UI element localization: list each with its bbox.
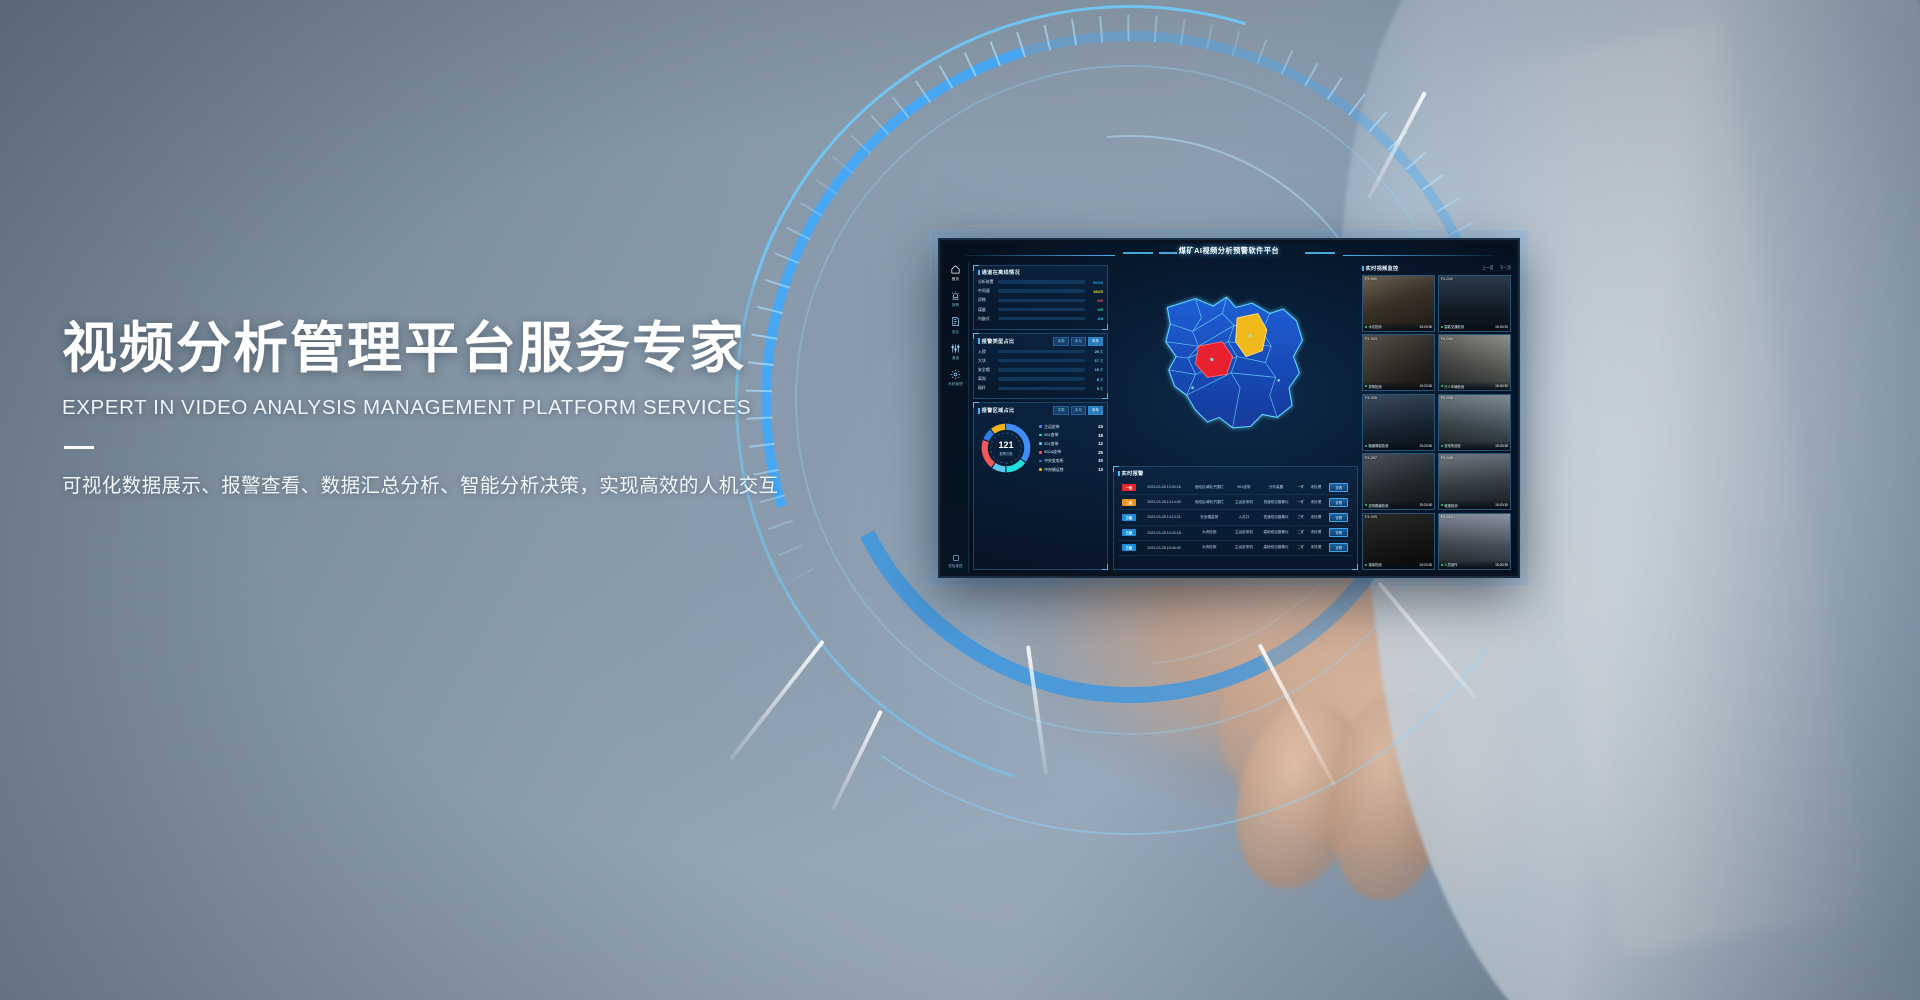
alarm-type-value: 10次 bbox=[1088, 367, 1103, 372]
panel-title: 通道在离线情况 bbox=[978, 269, 1020, 276]
video-footer: 跑偏撕裂检测15:20:30 bbox=[1363, 442, 1434, 450]
alarm-level-cell: 三级 bbox=[1118, 525, 1140, 540]
alarm-type-row: 大块17次 bbox=[978, 358, 1103, 364]
video-cell[interactable]: FX-010人员操作15:20:30 bbox=[1438, 513, 1511, 570]
alarm-type-label: 大块 bbox=[978, 358, 995, 364]
legend-label: 902A皮带 bbox=[1044, 449, 1096, 455]
video-name-text: 跑偏撕裂检测 bbox=[1369, 443, 1389, 448]
alarm-area-cell: 主运皮带机 bbox=[1230, 525, 1257, 540]
alarm-status-cell: 未处理 bbox=[1307, 525, 1324, 540]
view-button[interactable]: 查看 bbox=[1329, 528, 1348, 537]
legend-row: 主运皮带43 bbox=[1039, 424, 1103, 430]
alarm-type-bar-list: 入侵20次大块17次安全帽10次离岗8次插杆5次 bbox=[978, 349, 1103, 392]
table-row[interactable]: 一级2023-03-28 13:00:16危险区域电子围栏901皮带分析装置一矿… bbox=[1118, 480, 1353, 495]
alarm-time-cell: 2023-03-28 13:14:03 bbox=[1140, 495, 1188, 510]
donut-chart-wrap: 121 报警次数 主运皮带43901皮带18201皮带12902A皮带25中央变… bbox=[978, 418, 1103, 476]
alarm-area-cell: 入井口 bbox=[1230, 510, 1257, 525]
alarm-level-cell: 三级 bbox=[1118, 510, 1140, 525]
channel-bar-row: 煤量4/9 bbox=[978, 307, 1103, 313]
sidebar-item-calibration[interactable]: 校验某框 bbox=[943, 554, 968, 568]
online-status-dot bbox=[1365, 385, 1367, 387]
online-status-dot bbox=[1365, 504, 1367, 506]
alarm-type-cell: 危险区域电子围栏 bbox=[1188, 480, 1230, 495]
video-footer: 行人车辆检测15:20:30 bbox=[1439, 382, 1510, 390]
alarm-grade-cell: 三矿 bbox=[1295, 510, 1308, 525]
view-button[interactable]: 查看 bbox=[1329, 543, 1348, 552]
sidebar-label: 校验某框 bbox=[948, 563, 962, 568]
online-status-dot bbox=[1365, 445, 1367, 447]
header-accent-line-right bbox=[1343, 255, 1493, 256]
alarm-type-cell: 安全帽监测 bbox=[1188, 510, 1230, 525]
monitor-frame: 煤矿AI视频分析预警软件平台 首页 报警 bbox=[938, 238, 1520, 578]
alarm-type-label: 入侵 bbox=[978, 349, 995, 355]
video-camera-id: FX-005 bbox=[1365, 396, 1377, 400]
channel-bar-value: 50/65 bbox=[1088, 280, 1103, 285]
alarm-status-cell: 未处理 bbox=[1307, 540, 1324, 555]
gear-icon bbox=[950, 369, 961, 380]
video-name-text: 皮带跑偏检测 bbox=[1369, 503, 1389, 508]
alarm-time-cell: 2023-03-28 15:46:00 bbox=[1140, 540, 1188, 555]
video-detection-name: 人员操作 bbox=[1441, 562, 1458, 567]
alarm-type-cell: 危险区域电子围栏 bbox=[1188, 495, 1230, 510]
table-row[interactable]: 三级2023-03-28 14:43:18大块检测主运皮带机高帧双目摄像仪二矿未… bbox=[1118, 525, 1353, 540]
online-status-dot bbox=[1365, 326, 1367, 328]
legend-color-dot bbox=[1039, 460, 1042, 463]
panel-header: 报警类型占比 本周本月本年 bbox=[978, 337, 1103, 346]
panel-title: 报警类型占比 bbox=[978, 338, 1015, 345]
channel-bar-label: 异物 bbox=[978, 297, 995, 303]
channel-bar-value: 16/25 bbox=[1088, 289, 1103, 294]
video-footer: 水位检测15:20:30 bbox=[1363, 323, 1434, 331]
period-tab-本周[interactable]: 本周 bbox=[1053, 406, 1068, 415]
donut-center: 121 报警次数 bbox=[978, 420, 1034, 476]
table-row[interactable]: 三级2023-03-28 15:46:00大块检测主运皮带机高帧双目摄像仪二矿未… bbox=[1118, 540, 1353, 555]
sidebar-item-alarm[interactable]: 报警 bbox=[943, 290, 968, 307]
video-name-text: 行人车辆检测 bbox=[1444, 384, 1464, 389]
video-cell[interactable]: FX-003异物检测15:20:30 bbox=[1362, 334, 1435, 391]
video-timestamp: 15:20:30 bbox=[1419, 444, 1432, 448]
alarm-area-panel: 报警区域占比 本周本月本年 121 报警次数 主运皮带43901皮带18201皮… bbox=[973, 402, 1108, 570]
video-detection-name: 水位检测 bbox=[1365, 324, 1382, 329]
channel-bar-row: 异物6/9 bbox=[978, 297, 1103, 303]
donut-total-value: 121 bbox=[998, 441, 1013, 450]
alarm-level-cell: 二级 bbox=[1118, 495, 1140, 510]
channel-bar-label: 分析装置 bbox=[978, 279, 995, 285]
header-accent-chip bbox=[1123, 252, 1153, 254]
video-name-text: 堆煤检测 bbox=[1444, 503, 1457, 508]
sidebar-item-inspection[interactable]: 巡检 bbox=[943, 316, 968, 333]
channel-bar-list: 分析装置50/65中间速16/25异物6/9煤量4/9内嵌式4/9 bbox=[978, 279, 1103, 322]
channel-bar-track bbox=[998, 280, 1085, 283]
panel-header: 实时报警 bbox=[1118, 470, 1353, 477]
alarm-type-row: 安全帽10次 bbox=[978, 367, 1103, 373]
status-badge: 三级 bbox=[1122, 544, 1136, 551]
panel-title: 实时视频监控 bbox=[1362, 265, 1399, 272]
online-status-dot bbox=[1365, 564, 1367, 566]
divider-rule bbox=[64, 446, 94, 449]
video-camera-id: FX-007 bbox=[1365, 456, 1377, 460]
video-camera-id: FX-008 bbox=[1441, 456, 1453, 460]
video-detection-name: 堆煤检测 bbox=[1441, 503, 1458, 508]
home-icon bbox=[950, 264, 961, 275]
dashboard-sidebar: 首页 报警 巡检 通道 bbox=[943, 262, 969, 573]
sidebar-item-channel[interactable]: 通道 bbox=[943, 343, 968, 360]
header-accent-line-left bbox=[965, 255, 1115, 256]
alarm-type-value: 17次 bbox=[1088, 358, 1103, 363]
alarm-area-cell: 主运皮带机 bbox=[1230, 495, 1257, 510]
video-name-text: 水位检测 bbox=[1369, 324, 1382, 329]
legend-label: 主运皮带 bbox=[1044, 424, 1096, 430]
period-tab-group: 本周本月本年 bbox=[1053, 337, 1103, 346]
view-button[interactable]: 查看 bbox=[1329, 483, 1348, 492]
alarm-type-panel: 报警类型占比 本周本月本年 入侵20次大块17次安全帽10次离岗8次插杆5次 bbox=[973, 333, 1108, 400]
alarm-icon bbox=[950, 290, 961, 301]
sidebar-label: 报警 bbox=[952, 302, 959, 307]
video-cell[interactable]: FX-009煤量检测15:20:30 bbox=[1362, 513, 1435, 570]
alarm-type-row: 入侵20次 bbox=[978, 349, 1103, 355]
period-tab-group: 本周本月本年 bbox=[1053, 406, 1103, 415]
video-cell[interactable]: FX-005跑偏撕裂检测15:20:30 bbox=[1362, 394, 1435, 451]
legend-color-dot bbox=[1039, 434, 1042, 437]
sidebar-label: 系统管理 bbox=[948, 381, 962, 386]
legend-label: 中央辅运巷 bbox=[1044, 467, 1096, 473]
prev-page-button[interactable]: 上一页 bbox=[1482, 266, 1493, 271]
alarm-area-cell: 主运皮带机 bbox=[1230, 540, 1257, 555]
alarm-status-cell: 未处理 bbox=[1307, 480, 1324, 495]
left-column: 通道在离线情况 分析装置50/65中间速16/25异物6/9煤量4/9内嵌式4/… bbox=[969, 262, 1111, 573]
channel-bar-value: 4/9 bbox=[1088, 307, 1103, 312]
sidebar-item-home[interactable]: 首页 bbox=[943, 264, 968, 281]
video-timestamp: 15:20:30 bbox=[1419, 325, 1432, 329]
video-grid: FX-001水位检测15:20:30FX-002智能交通检测15:20:30FX… bbox=[1362, 275, 1511, 571]
video-footer: 变电所巡检15:20:30 bbox=[1439, 442, 1510, 450]
alarm-device-cell: 低速双目摄像仪 bbox=[1257, 510, 1294, 525]
alarm-level-cell: 一级 bbox=[1118, 480, 1140, 495]
alarm-type-track bbox=[998, 359, 1085, 362]
alarm-type-row: 离岗8次 bbox=[978, 376, 1103, 382]
video-pagination: 上一页 下一页 bbox=[1482, 266, 1511, 271]
video-timestamp: 15:20:30 bbox=[1495, 384, 1508, 388]
video-name-text: 智能交通检测 bbox=[1444, 324, 1464, 329]
video-name-text: 变电所巡检 bbox=[1444, 443, 1460, 448]
video-detection-name: 行人车辆检测 bbox=[1441, 384, 1464, 389]
video-detection-name: 煤量检测 bbox=[1365, 562, 1382, 567]
video-detection-name: 变电所巡检 bbox=[1441, 443, 1461, 448]
table-row[interactable]: 二级2023-03-28 13:14:03危险区域电子围栏主运皮带机低速双目摄像… bbox=[1118, 495, 1353, 510]
legend-color-dot bbox=[1039, 468, 1042, 471]
alarm-type-track bbox=[998, 368, 1085, 371]
video-timestamp: 15:20:30 bbox=[1495, 325, 1508, 329]
alarm-device-cell: 高帧双目摄像仪 bbox=[1257, 540, 1294, 555]
alarm-type-row: 插杆5次 bbox=[978, 385, 1103, 391]
channel-status-panel: 通道在离线情况 分析装置50/65中间速16/25异物6/9煤量4/9内嵌式4/… bbox=[973, 265, 1108, 330]
legend-color-dot bbox=[1039, 442, 1042, 445]
legend-value: 13 bbox=[1098, 467, 1103, 472]
channel-bar-value: 4/9 bbox=[1088, 316, 1103, 321]
alarm-device-cell: 分析装置 bbox=[1257, 480, 1294, 495]
legend-value: 25 bbox=[1098, 450, 1103, 455]
alarm-type-cell: 大块检测 bbox=[1188, 540, 1230, 555]
legend-row: 201皮带12 bbox=[1039, 441, 1103, 447]
channel-bar-track bbox=[998, 317, 1085, 320]
donut-legend: 主运皮带43901皮带18201皮带12902A皮带25中央变电所10中央辅运巷… bbox=[1039, 424, 1103, 473]
legend-label: 201皮带 bbox=[1044, 441, 1096, 447]
alarm-type-value: 5次 bbox=[1088, 386, 1103, 391]
period-tab-本年[interactable]: 本年 bbox=[1088, 406, 1103, 415]
video-footer: 智能交通检测15:20:30 bbox=[1439, 323, 1510, 331]
video-camera-id: FX-001 bbox=[1365, 277, 1377, 281]
sidebar-label: 巡检 bbox=[952, 329, 959, 334]
video-cell[interactable]: FX-004行人车辆检测15:20:30 bbox=[1438, 334, 1511, 391]
video-footer: 煤量检测15:20:30 bbox=[1363, 561, 1434, 569]
video-cell[interactable]: FX-007皮带跑偏检测15:20:30 bbox=[1362, 453, 1435, 510]
dashboard-screen: 煤矿AI视频分析预警软件平台 首页 报警 bbox=[943, 243, 1515, 573]
video-timestamp: 15:20:30 bbox=[1495, 503, 1508, 507]
video-panel-header: 实时视频监控 上一页 下一页 bbox=[1362, 265, 1511, 272]
alarm-type-value: 8次 bbox=[1088, 377, 1103, 382]
alarm-type-label: 安全帽 bbox=[978, 367, 995, 373]
calibration-icon bbox=[952, 554, 960, 562]
alarm-type-label: 插杆 bbox=[978, 385, 995, 391]
video-cell[interactable]: FX-001水位检测15:20:30 bbox=[1362, 275, 1435, 332]
region-map[interactable] bbox=[1113, 265, 1358, 466]
inspection-icon bbox=[950, 316, 961, 327]
alarm-action-cell: 查看 bbox=[1325, 495, 1353, 510]
period-tab-本周[interactable]: 本周 bbox=[1053, 337, 1068, 346]
video-detection-name: 智能交通检测 bbox=[1441, 324, 1464, 329]
video-camera-id: FX-009 bbox=[1365, 515, 1377, 519]
video-name-text: 人员操作 bbox=[1444, 562, 1457, 567]
legend-row: 901皮带18 bbox=[1039, 432, 1103, 438]
panel-header: 通道在离线情况 bbox=[978, 269, 1103, 276]
alarm-type-label: 离岗 bbox=[978, 376, 995, 382]
alarm-type-track bbox=[998, 377, 1085, 380]
video-detection-name: 异物检测 bbox=[1365, 384, 1382, 389]
alarm-time-cell: 2023-03-28 14:13:21 bbox=[1140, 510, 1188, 525]
status-badge: 三级 bbox=[1122, 514, 1136, 521]
alarm-action-cell: 查看 bbox=[1325, 510, 1353, 525]
sidebar-label: 通道 bbox=[952, 355, 959, 360]
alarm-type-cell: 大块检测 bbox=[1188, 525, 1230, 540]
legend-row: 902A皮带25 bbox=[1039, 449, 1103, 455]
video-camera-id: FX-004 bbox=[1441, 337, 1453, 341]
online-status-dot bbox=[1441, 445, 1443, 447]
alarm-type-value: 20次 bbox=[1088, 349, 1103, 354]
video-camera-id: FX-006 bbox=[1441, 396, 1453, 400]
legend-color-dot bbox=[1039, 425, 1042, 428]
online-status-dot bbox=[1441, 504, 1443, 506]
online-status-dot bbox=[1441, 326, 1443, 328]
legend-label: 中央变电所 bbox=[1044, 458, 1096, 464]
video-name-text: 煤量检测 bbox=[1369, 562, 1382, 567]
alarm-status-cell: 未处理 bbox=[1307, 510, 1324, 525]
panel-title: 报警区域占比 bbox=[978, 407, 1015, 414]
header-accent-chip bbox=[1305, 252, 1335, 254]
channel-bar-track bbox=[998, 289, 1085, 292]
header-accent-chip bbox=[1159, 252, 1177, 254]
channel-bar-track bbox=[998, 308, 1085, 311]
sidebar-label: 首页 bbox=[952, 276, 959, 281]
video-footer: 皮带跑偏检测15:20:30 bbox=[1363, 501, 1434, 509]
donut-total-caption: 报警次数 bbox=[999, 451, 1012, 456]
legend-color-dot bbox=[1039, 451, 1042, 454]
alarm-action-cell: 查看 bbox=[1325, 525, 1353, 540]
alarm-device-cell: 高帧双目摄像仪 bbox=[1257, 525, 1294, 540]
channel-bar-row: 内嵌式4/9 bbox=[978, 316, 1103, 322]
alarm-time-cell: 2023-03-28 14:43:18 bbox=[1140, 525, 1188, 540]
status-badge: 二级 bbox=[1122, 499, 1136, 506]
channel-bar-label: 煤量 bbox=[978, 307, 995, 313]
video-timestamp: 15:20:30 bbox=[1419, 563, 1432, 567]
page-title: 视频分析管理平台服务专家 bbox=[62, 318, 882, 380]
video-camera-id: FX-003 bbox=[1365, 337, 1377, 341]
legend-value: 43 bbox=[1098, 424, 1103, 429]
center-column: 实时报警 一级2023-03-28 13:00:16危险区域电子围栏901皮带分… bbox=[1111, 262, 1360, 573]
legend-row: 中央变电所10 bbox=[1039, 458, 1103, 464]
video-timestamp: 15:20:30 bbox=[1495, 444, 1508, 448]
video-name-text: 异物检测 bbox=[1369, 384, 1382, 389]
video-detection-name: 跑偏撕裂检测 bbox=[1365, 443, 1388, 448]
video-footer: 人员操作15:20:30 bbox=[1439, 561, 1510, 569]
video-timestamp: 15:20:30 bbox=[1495, 563, 1508, 567]
alarm-grade-cell: 一矿 bbox=[1295, 480, 1308, 495]
video-timestamp: 15:20:30 bbox=[1419, 384, 1432, 388]
view-button[interactable]: 查看 bbox=[1329, 498, 1348, 507]
channel-bar-value: 6/9 bbox=[1088, 298, 1103, 303]
sidebar-item-system[interactable]: 系统管理 bbox=[943, 369, 968, 386]
alarm-action-cell: 查看 bbox=[1325, 540, 1353, 555]
alarm-action-cell: 查看 bbox=[1325, 480, 1353, 495]
panel-header: 报警区域占比 本周本月本年 bbox=[978, 406, 1103, 415]
channel-bar-row: 分析装置50/65 bbox=[978, 279, 1103, 285]
alarm-table: 一级2023-03-28 13:00:16危险区域电子围栏901皮带分析装置一矿… bbox=[1118, 480, 1353, 556]
map-svg bbox=[1118, 269, 1353, 462]
channel-bar-label: 中间速 bbox=[978, 288, 995, 294]
video-detection-name: 皮带跑偏检测 bbox=[1365, 503, 1388, 508]
video-camera-id: FX-002 bbox=[1441, 277, 1453, 281]
legend-label: 901皮带 bbox=[1044, 432, 1096, 438]
video-camera-id: FX-010 bbox=[1441, 515, 1453, 519]
hero-copy: 视频分析管理平台服务专家 EXPERT IN VIDEO ANALYSIS MA… bbox=[62, 318, 882, 498]
online-status-dot bbox=[1441, 564, 1443, 566]
video-cell[interactable]: FX-002智能交通检测15:20:30 bbox=[1438, 275, 1511, 332]
channel-icon bbox=[950, 343, 961, 354]
period-tab-本月[interactable]: 本月 bbox=[1071, 406, 1086, 415]
next-page-button[interactable]: 下一页 bbox=[1500, 266, 1511, 271]
alarm-type-track bbox=[998, 387, 1085, 390]
dashboard-header: 煤矿AI视频分析预警软件平台 bbox=[943, 243, 1515, 262]
legend-value: 10 bbox=[1098, 458, 1103, 463]
alarm-grade-cell: 一矿 bbox=[1295, 495, 1308, 510]
status-badge: 一级 bbox=[1122, 484, 1136, 491]
video-cell[interactable]: FX-006变电所巡检15:20:30 bbox=[1438, 394, 1511, 451]
period-tab-本月[interactable]: 本月 bbox=[1071, 337, 1086, 346]
alarm-level-cell: 三级 bbox=[1118, 540, 1140, 555]
channel-bar-label: 内嵌式 bbox=[978, 316, 995, 322]
alarm-grade-cell: 二矿 bbox=[1295, 525, 1308, 540]
alarm-area-donut: 121 报警次数 bbox=[978, 420, 1034, 476]
view-button[interactable]: 查看 bbox=[1329, 513, 1348, 522]
alarm-type-track bbox=[998, 350, 1085, 353]
video-footer: 异物检测15:20:30 bbox=[1363, 382, 1434, 390]
period-tab-本年[interactable]: 本年 bbox=[1088, 337, 1103, 346]
legend-value: 12 bbox=[1098, 441, 1103, 446]
right-column: 实时视频监控 上一页 下一页 FX-001水位检测15:20:30FX-002智… bbox=[1360, 262, 1515, 573]
alarm-area-cell: 901皮带 bbox=[1230, 480, 1257, 495]
page-description: 可视化数据展示、报警查看、数据汇总分析、智能分析决策，实现高效的人机交互 bbox=[62, 469, 882, 498]
online-status-dot bbox=[1441, 385, 1443, 387]
channel-bar-row: 中间速16/25 bbox=[978, 288, 1103, 294]
table-row[interactable]: 三级2023-03-28 14:13:21安全帽监测入井口低速双目摄像仪三矿未处… bbox=[1118, 510, 1353, 525]
dashboard-title: 煤矿AI视频分析预警软件平台 bbox=[1179, 246, 1279, 256]
legend-value: 18 bbox=[1098, 433, 1103, 438]
channel-bar-track bbox=[998, 299, 1085, 302]
panel-title: 实时报警 bbox=[1118, 470, 1144, 477]
legend-row: 中央辅运巷13 bbox=[1039, 467, 1103, 473]
video-cell[interactable]: FX-008堆煤检测15:20:30 bbox=[1438, 453, 1511, 510]
page-subtitle: EXPERT IN VIDEO ANALYSIS MANAGEMENT PLAT… bbox=[62, 396, 882, 420]
video-footer: 堆煤检测15:20:30 bbox=[1439, 501, 1510, 509]
alarm-time-cell: 2023-03-28 13:00:16 bbox=[1140, 480, 1188, 495]
realtime-alarm-panel: 实时报警 一级2023-03-28 13:00:16危险区域电子围栏901皮带分… bbox=[1113, 466, 1358, 570]
video-timestamp: 15:20:30 bbox=[1419, 503, 1432, 507]
alarm-status-cell: 未处理 bbox=[1307, 495, 1324, 510]
status-badge: 三级 bbox=[1122, 529, 1136, 536]
alarm-grade-cell: 二矿 bbox=[1295, 540, 1308, 555]
alarm-device-cell: 低速双目摄像仪 bbox=[1257, 495, 1294, 510]
dashboard-body: 首页 报警 巡检 通道 bbox=[943, 262, 1515, 573]
